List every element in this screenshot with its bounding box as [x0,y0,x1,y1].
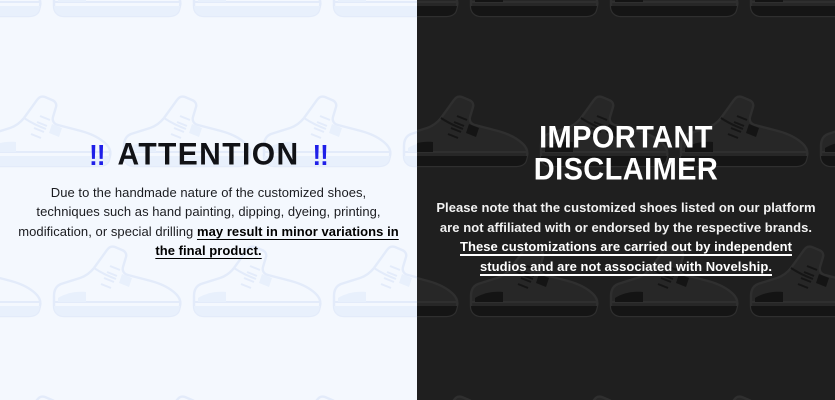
disclaimer-title-line-2: DISCLAIMER [435,154,817,186]
attention-panel: !! ATTENTION !! Due to the handmade natu… [0,0,417,400]
attention-content: !! ATTENTION !! Due to the handmade natu… [0,140,417,261]
double-exclamation-left-icon: !! [89,140,104,169]
attention-title: ATTENTION [117,139,299,171]
customization-notice-banner: !! ATTENTION !! Due to the handmade natu… [0,0,835,400]
double-exclamation-right-icon: !! [313,140,328,169]
disclaimer-title: IMPORTANT DISCLAIMER [435,122,817,187]
attention-heading-row: !! ATTENTION !! [18,140,399,170]
disclaimer-body-text: Please note that the customized shoes li… [435,198,817,276]
disclaimer-body-emphasis: These customizations are carried out by … [460,239,792,274]
disclaimer-body-normal: Please note that the customized shoes li… [436,200,815,235]
disclaimer-panel: IMPORTANT DISCLAIMER Please note that th… [417,0,835,400]
disclaimer-content: IMPORTANT DISCLAIMER Please note that th… [417,124,835,276]
disclaimer-title-line-1: IMPORTANT [435,122,817,154]
attention-body-text: Due to the handmade nature of the custom… [18,183,399,261]
